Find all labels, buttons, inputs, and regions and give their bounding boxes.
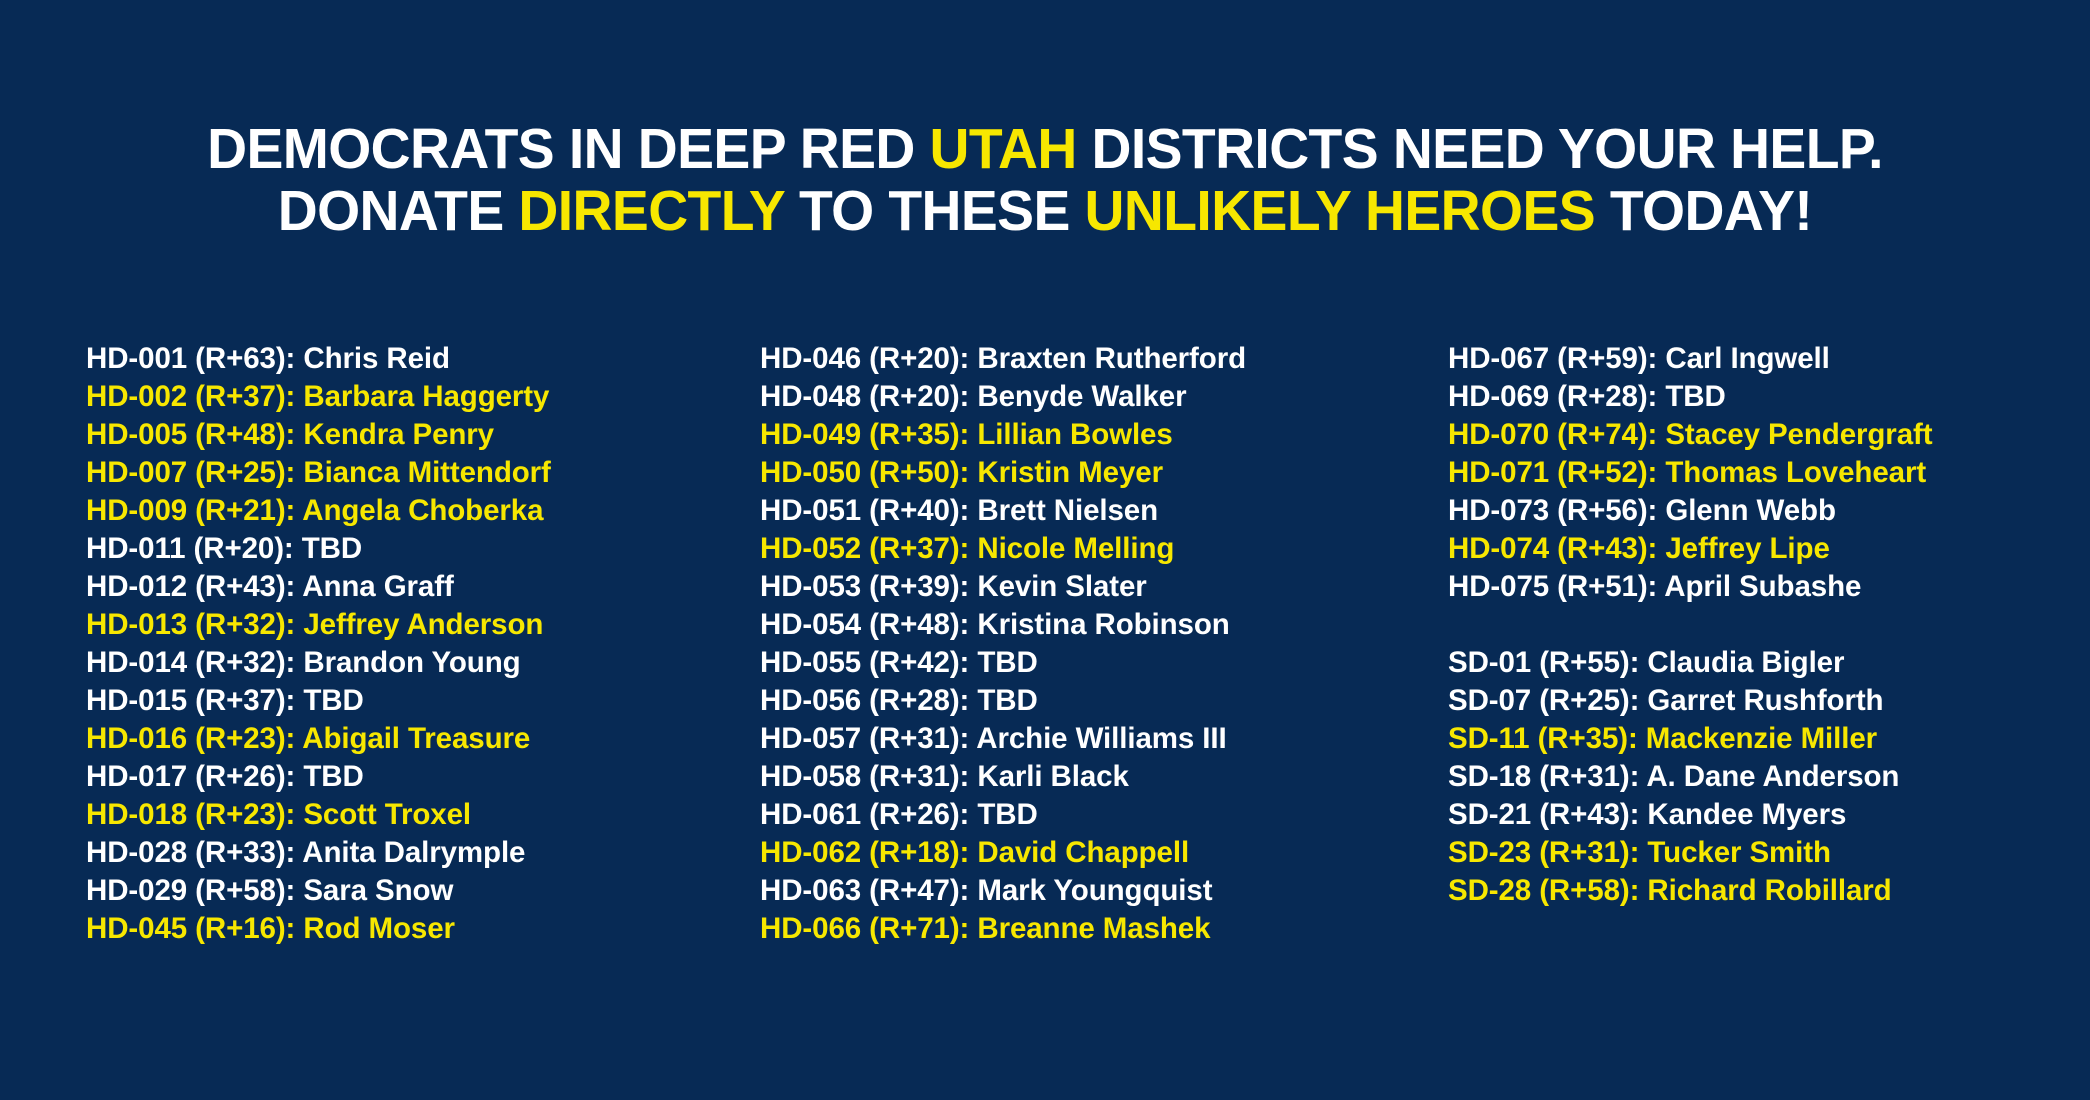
district-entry: HD-050 (R+50): Kristin Meyer <box>760 454 1420 492</box>
district-entry: HD-053 (R+39): Kevin Slater <box>760 568 1420 606</box>
district-entry: HD-045 (R+16): Rod Moser <box>86 910 726 948</box>
district-entry: HD-018 (R+23): Scott Troxel <box>86 796 726 834</box>
district-entry: SD-07 (R+25): Garret Rushforth <box>1448 682 2068 720</box>
headline-run-white-2: DISTRICTS NEED YOUR HELP. <box>1077 117 1883 181</box>
district-entry: HD-057 (R+31): Archie Williams III <box>760 720 1420 758</box>
district-entry: SD-11 (R+35): Mackenzie Miller <box>1448 720 2068 758</box>
district-entry: HD-014 (R+32): Brandon Young <box>86 644 726 682</box>
district-entry: HD-061 (R+26): TBD <box>760 796 1420 834</box>
district-entry: HD-073 (R+56): Glenn Webb <box>1448 492 2068 530</box>
district-entry: HD-051 (R+40): Brett Nielsen <box>760 492 1420 530</box>
district-entry: HD-002 (R+37): Barbara Haggerty <box>86 378 726 416</box>
district-entry: HD-055 (R+42): TBD <box>760 644 1420 682</box>
district-entry: HD-007 (R+25): Bianca Mittendorf <box>86 454 726 492</box>
headline-run-yellow-1: DIRECTLY <box>518 179 784 243</box>
district-entry: HD-071 (R+52): Thomas Loveheart <box>1448 454 2068 492</box>
district-entry: HD-048 (R+20): Benyde Walker <box>760 378 1420 416</box>
district-entry: HD-049 (R+35): Lillian Bowles <box>760 416 1420 454</box>
district-entry: HD-062 (R+18): David Chappell <box>760 834 1420 872</box>
district-entry: SD-01 (R+55): Claudia Bigler <box>1448 644 2068 682</box>
district-entry: HD-063 (R+47): Mark Youngquist <box>760 872 1420 910</box>
headline-run-white-4: TODAY! <box>1595 179 1812 243</box>
district-entry: HD-046 (R+20): Braxten Rutherford <box>760 340 1420 378</box>
district-entry: HD-001 (R+63): Chris Reid <box>86 340 726 378</box>
district-entry: HD-028 (R+33): Anita Dalrymple <box>86 834 726 872</box>
headline-line-2: DONATE DIRECTLY TO THESE UNLIKELY HEROES… <box>31 180 2058 242</box>
headline-run-yellow-1: UTAH <box>930 117 1077 181</box>
district-entry: HD-066 (R+71): Breanne Mashek <box>760 910 1420 948</box>
district-entry: HD-074 (R+43): Jeffrey Lipe <box>1448 530 2068 568</box>
headline-line-1: DEMOCRATS IN DEEP RED UTAH DISTRICTS NEE… <box>31 118 2058 180</box>
district-column-1: HD-001 (R+63): Chris ReidHD-002 (R+37): … <box>86 340 726 948</box>
district-entry: HD-067 (R+59): Carl Ingwell <box>1448 340 2068 378</box>
poster-canvas: DEMOCRATS IN DEEP RED UTAH DISTRICTS NEE… <box>0 0 2090 1100</box>
district-columns: HD-001 (R+63): Chris ReidHD-002 (R+37): … <box>0 340 2090 1000</box>
district-entry: HD-011 (R+20): TBD <box>86 530 726 568</box>
district-entry: HD-009 (R+21): Angela Choberka <box>86 492 726 530</box>
district-entry: HD-013 (R+32): Jeffrey Anderson <box>86 606 726 644</box>
district-column-2: HD-046 (R+20): Braxten RutherfordHD-048 … <box>760 340 1420 948</box>
district-entry: HD-069 (R+28): TBD <box>1448 378 2068 416</box>
district-entry: HD-070 (R+74): Stacey Pendergraft <box>1448 416 2068 454</box>
district-entry: HD-016 (R+23): Abigail Treasure <box>86 720 726 758</box>
district-entry: HD-005 (R+48): Kendra Penry <box>86 416 726 454</box>
headline-run-yellow-3: UNLIKELY HEROES <box>1085 179 1596 243</box>
district-entry: SD-23 (R+31): Tucker Smith <box>1448 834 2068 872</box>
headline-run-white-2: TO THESE <box>784 179 1084 243</box>
district-entry: SD-28 (R+58): Richard Robillard <box>1448 872 2068 910</box>
headline-run-white-0: DONATE <box>278 179 519 243</box>
block-separator <box>1448 606 2068 644</box>
page-title: DEMOCRATS IN DEEP RED UTAH DISTRICTS NEE… <box>31 118 2058 242</box>
district-entry: SD-18 (R+31): A. Dane Anderson <box>1448 758 2068 796</box>
district-entry: HD-017 (R+26): TBD <box>86 758 726 796</box>
district-entry: HD-012 (R+43): Anna Graff <box>86 568 726 606</box>
district-entry: HD-015 (R+37): TBD <box>86 682 726 720</box>
district-entry: HD-029 (R+58): Sara Snow <box>86 872 726 910</box>
district-entry: HD-058 (R+31): Karli Black <box>760 758 1420 796</box>
district-entry: HD-056 (R+28): TBD <box>760 682 1420 720</box>
district-entry: HD-075 (R+51): April Subashe <box>1448 568 2068 606</box>
district-entry: HD-052 (R+37): Nicole Melling <box>760 530 1420 568</box>
headline-run-white-0: DEMOCRATS IN DEEP RED <box>207 117 929 181</box>
district-column-3: HD-067 (R+59): Carl IngwellHD-069 (R+28)… <box>1448 340 2068 910</box>
district-entry: HD-054 (R+48): Kristina Robinson <box>760 606 1420 644</box>
district-entry: SD-21 (R+43): Kandee Myers <box>1448 796 2068 834</box>
